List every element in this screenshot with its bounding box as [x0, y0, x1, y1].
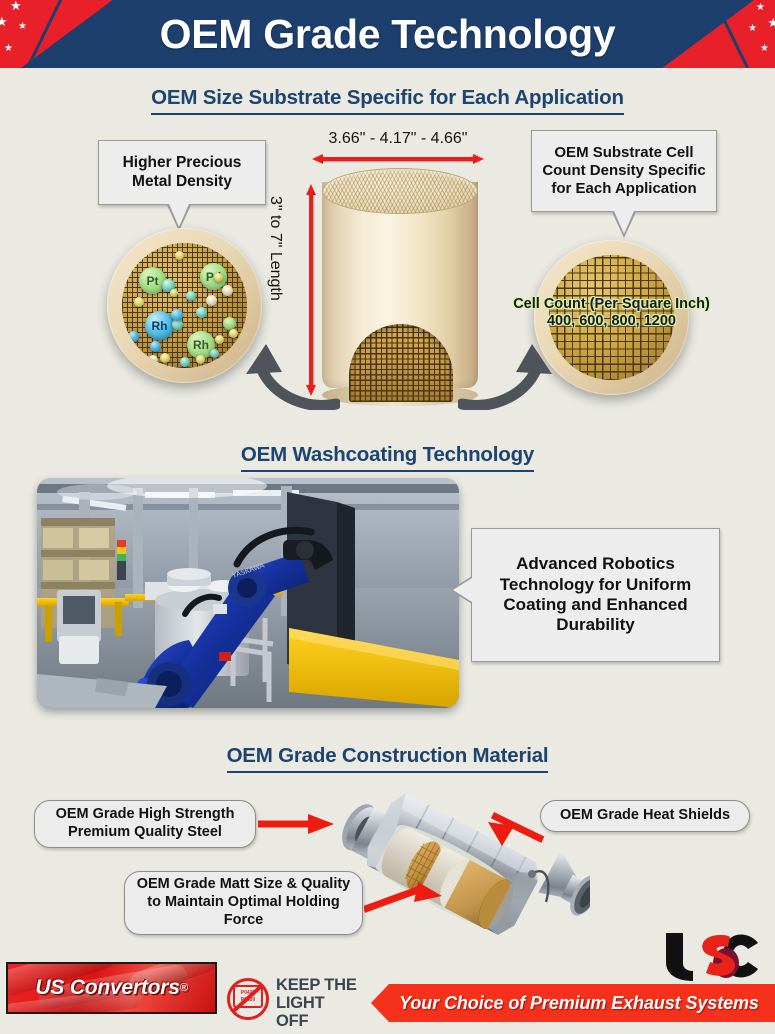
diameter-label: 3.66" - 4.17" - 4.66"	[298, 130, 498, 148]
precious-metal-substrate-circle: Pt Pd Rh Rh	[107, 228, 262, 383]
callout-matt-size: OEM Grade Matt Size & Quality to Maintai…	[124, 871, 363, 935]
diameter-arrow	[312, 154, 484, 164]
section-heading-construction: OEM Grade Construction Material	[0, 744, 775, 773]
usc-logo[interactable]	[662, 931, 762, 983]
brand-name: US Convertors	[35, 976, 179, 1000]
callout-advanced-robotics: Advanced Robotics Technology for Uniform…	[471, 528, 720, 662]
cell-count-title: Cell Count (Per Square Inch)	[495, 296, 728, 313]
callout-text: OEM Grade Heat Shields	[560, 807, 730, 825]
poster-title: OEM Grade Technology	[0, 0, 775, 68]
callout-higher-precious-metal-density: Higher Precious Metal Density	[98, 140, 266, 205]
callout-text: Higher Precious Metal Density	[107, 154, 257, 191]
light-off-line: LIGHT OFF	[276, 994, 359, 1030]
arrow-to-left-circle	[240, 330, 340, 410]
section-heading-washcoating: OEM Washcoating Technology	[0, 443, 775, 472]
callout-text: OEM Grade Matt Size & Quality to Maintai…	[133, 876, 354, 929]
cell-count-values: 400, 600, 800, 1200	[495, 313, 728, 330]
length-label: 3" to 7" Length	[266, 196, 284, 301]
callout-text: OEM Grade High Strength Premium Quality …	[43, 806, 247, 841]
tagline-text: Your Choice of Premium Exhaust Systems	[387, 993, 759, 1014]
callout-text: OEM Substrate Cell Count Density Specifi…	[539, 144, 709, 198]
metal-sphere-pt: Pt	[139, 267, 166, 294]
callout-heat-shields: OEM Grade Heat Shields	[540, 800, 750, 832]
keep-the-line: KEEP THE	[276, 976, 359, 994]
registered-mark-icon: ®	[180, 982, 188, 994]
keep-the-light-off-badge: P0420 P0430 KEEP THE LIGHT OFF	[227, 975, 359, 1023]
callout-oem-substrate-cell-count: OEM Substrate Cell Count Density Specifi…	[531, 130, 717, 212]
tagline-ribbon: Your Choice of Premium Exhaust Systems	[371, 984, 775, 1022]
header-banner: ★ ★ ★ ★ ★ ★ ★ ★ ★ ★ ★ OEM Grade Technolo…	[0, 0, 775, 68]
substrate-cylinder-illustration	[322, 168, 478, 402]
callout-high-strength-steel: OEM Grade High Strength Premium Quality …	[34, 800, 256, 848]
arrow-matt-size	[364, 880, 446, 922]
arrow-steel	[258, 812, 334, 836]
robotic-washcoating-line-photo: YASKAWA	[37, 478, 459, 708]
arrow-heat-shields	[472, 808, 548, 850]
metal-sphere-rh-blue: Rh	[145, 311, 174, 340]
us-convertors-brand-badge[interactable]: US Convertors®	[6, 962, 217, 1014]
section-heading-substrate: OEM Size Substrate Specific for Each App…	[0, 86, 775, 115]
callout-text: Advanced Robotics Technology for Uniform…	[482, 554, 709, 636]
cylinder-top-face	[322, 168, 478, 214]
infographic-poster: ★ ★ ★ ★ ★ ★ ★ ★ ★ ★ ★ OEM Grade Technolo…	[0, 0, 775, 1034]
arrow-to-right-circle	[458, 330, 558, 410]
